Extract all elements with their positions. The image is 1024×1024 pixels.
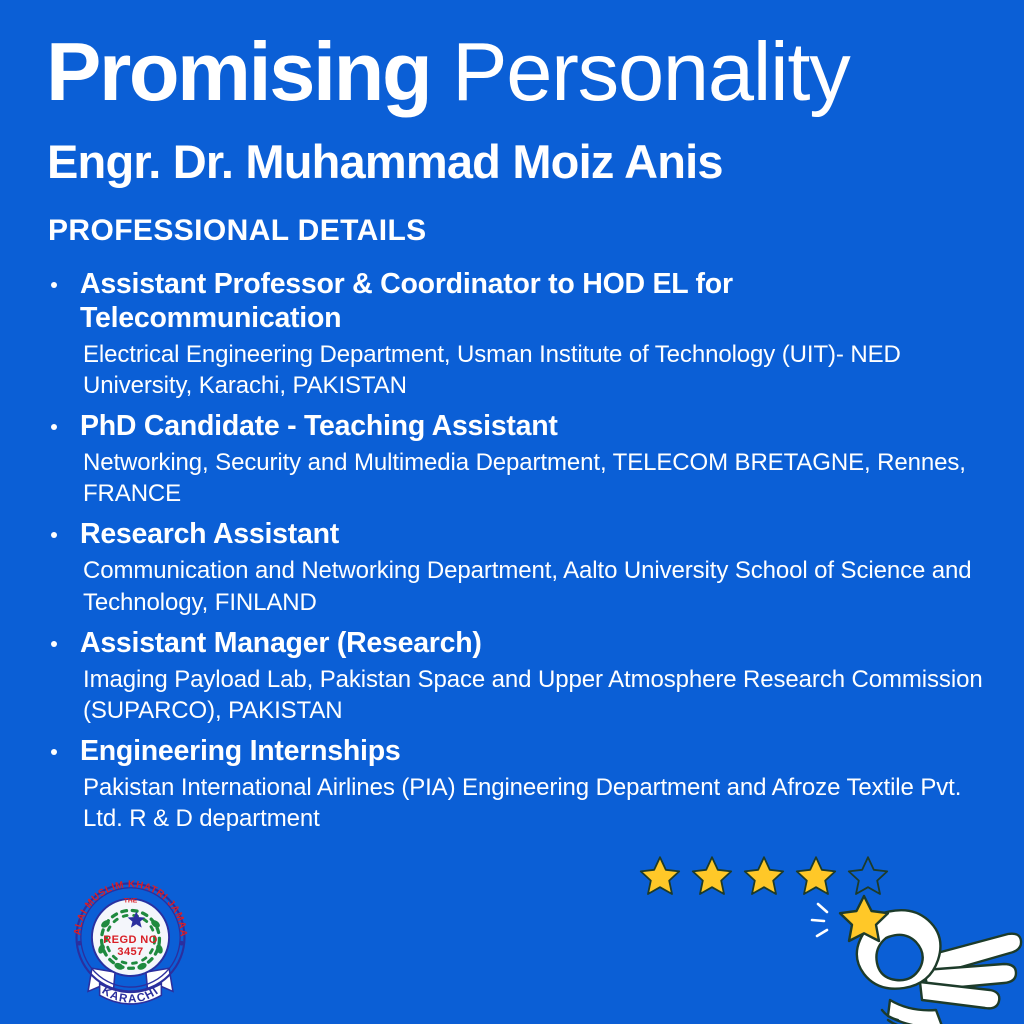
- detail-organization: Imaging Payload Lab, Pakistan Space and …: [83, 664, 996, 726]
- detail-role: Assistant Professor & Coordinator to HOD…: [80, 268, 996, 336]
- detail-role: Research Assistant: [80, 518, 996, 552]
- detail-role: Assistant Manager (Research): [80, 627, 996, 661]
- halai-muslim-khatri-jamaat-seal-icon: THE REGD NO 3457 HALAI MUSLIM KHATRI JAM…: [63, 860, 198, 1010]
- bullet-icon: [51, 424, 57, 430]
- bullet-icon: [51, 749, 57, 755]
- detail-organization: Networking, Security and Multimedia Depa…: [83, 447, 996, 509]
- detail-organization: Pakistan International Airlines (PIA) En…: [83, 772, 996, 834]
- detail-organization: Electrical Engineering Department, Usman…: [83, 339, 996, 401]
- logo-regd-line2: 3457: [117, 946, 143, 958]
- title-light-part: Personality: [430, 25, 849, 118]
- logo-top-small-text: THE: [124, 898, 138, 905]
- list-item: Assistant Manager (Research) Imaging Pay…: [46, 627, 996, 726]
- professional-details-list: Assistant Professor & Coordinator to HOD…: [46, 268, 996, 843]
- bullet-icon: [51, 282, 57, 288]
- logo-banner-text: KARACHI: [100, 985, 162, 1006]
- list-item: PhD Candidate - Teaching Assistant Netwo…: [46, 410, 996, 509]
- list-item: Research Assistant Communication and Net…: [46, 518, 996, 617]
- organization-logo: THE REGD NO 3457 HALAI MUSLIM KHATRI JAM…: [63, 860, 198, 1010]
- hand-holding-star-illustration: [808, 890, 1024, 1024]
- list-item: Engineering Internships Pakistan Interna…: [46, 735, 996, 834]
- detail-role: PhD Candidate - Teaching Assistant: [80, 410, 996, 444]
- star-filled-icon: [688, 852, 736, 900]
- section-heading-professional-details: PROFESSIONAL DETAILS: [48, 216, 427, 246]
- bullet-icon: [51, 641, 57, 647]
- person-name: Engr. Dr. Muhammad Moiz Anis: [47, 138, 723, 185]
- detail-role: Engineering Internships: [80, 735, 996, 769]
- list-item: Assistant Professor & Coordinator to HOD…: [46, 268, 996, 401]
- title-bold-part: Promising: [46, 25, 430, 118]
- star-filled-icon: [636, 852, 684, 900]
- poster-canvas: Promising Personality Engr. Dr. Muhammad…: [0, 0, 1024, 1024]
- bullet-icon: [51, 532, 57, 538]
- page-title: Promising Personality: [46, 30, 1006, 113]
- star-filled-icon: [740, 852, 788, 900]
- logo-regd-line1: REGD NO: [103, 934, 157, 946]
- detail-organization: Communication and Networking Department,…: [83, 555, 996, 617]
- hand-with-star-icon: [808, 890, 1024, 1024]
